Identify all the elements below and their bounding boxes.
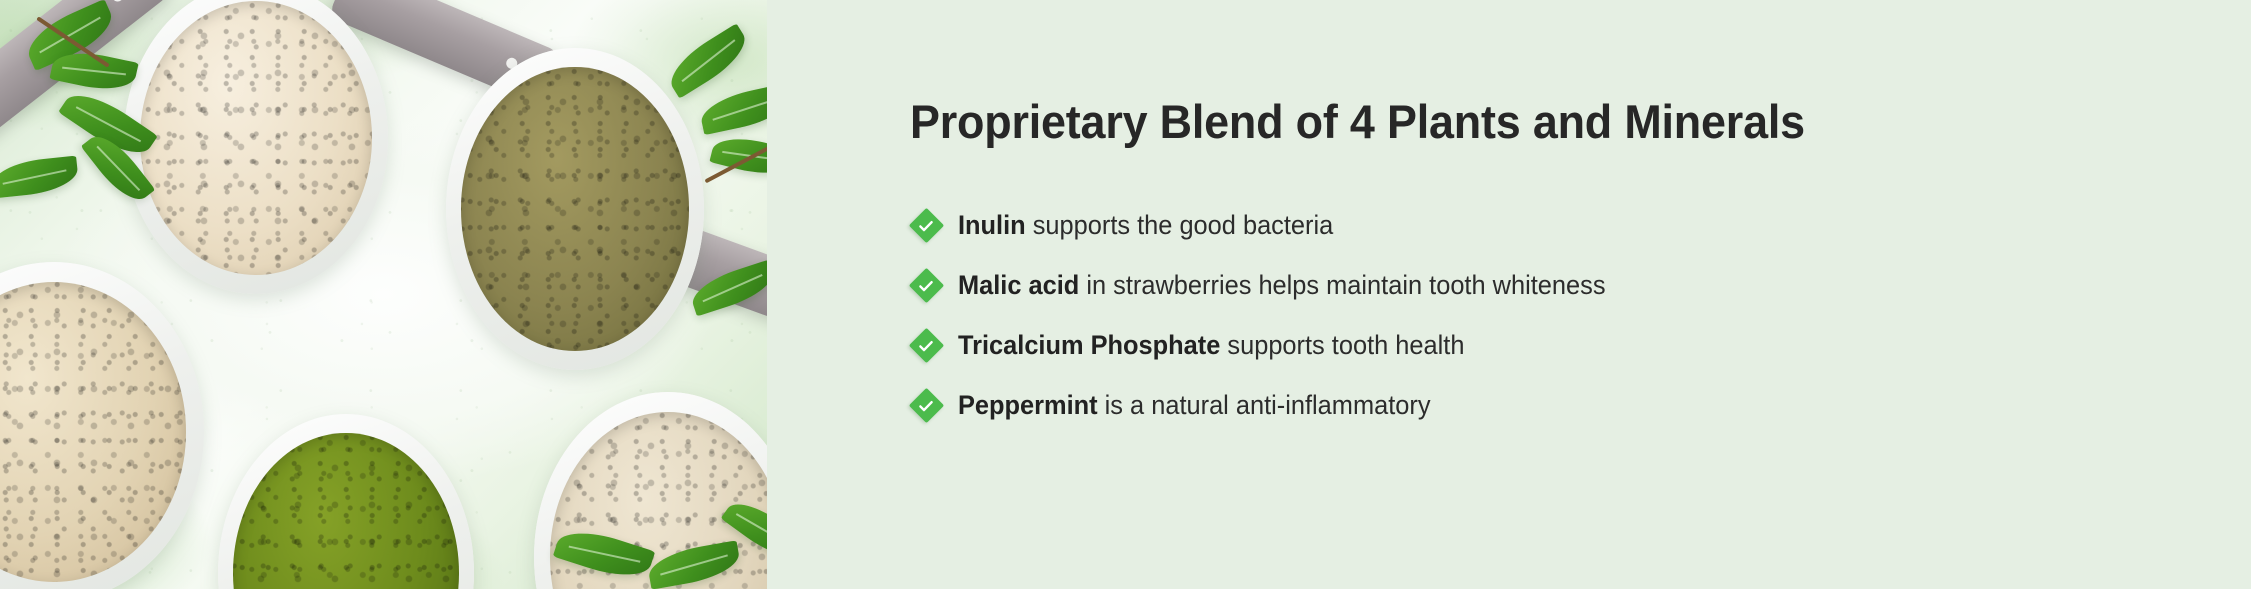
powder-grain-texture bbox=[140, 1, 372, 276]
check-diamond-icon bbox=[910, 210, 942, 242]
benefit-description: supports the good bacteria bbox=[1026, 210, 1334, 240]
product-benefits-banner: Proprietary Blend of 4 Plants and Minera… bbox=[0, 0, 2251, 589]
benefits-list: Inulin supports the good bacteria Malic … bbox=[910, 196, 2211, 436]
powder-grain-texture bbox=[461, 67, 688, 350]
powder-grain-texture bbox=[233, 433, 458, 589]
scoop-matcha-green-powder bbox=[218, 414, 474, 589]
benefit-term: Tricalcium Phosphate bbox=[958, 330, 1220, 360]
benefit-text: Peppermint is a natural anti-inflammator… bbox=[958, 389, 1431, 421]
list-item: Tricalcium Phosphate supports tooth heal… bbox=[910, 316, 2211, 376]
leaf-icon bbox=[697, 83, 767, 135]
benefit-description: in strawberries helps maintain tooth whi… bbox=[1079, 270, 1605, 300]
powder-fill bbox=[140, 1, 372, 276]
page-title: Proprietary Blend of 4 Plants and Minera… bbox=[910, 96, 2152, 149]
list-item: Peppermint is a natural anti-inflammator… bbox=[910, 376, 2211, 436]
powder-fill bbox=[233, 433, 458, 589]
benefits-content-panel: Proprietary Blend of 4 Plants and Minera… bbox=[767, 0, 2251, 589]
check-diamond-icon bbox=[910, 270, 942, 302]
powder-fill bbox=[0, 282, 186, 581]
benefit-text: Malic acid in strawberries helps maintai… bbox=[958, 269, 1606, 301]
powder-fill bbox=[461, 67, 688, 350]
benefit-description: supports tooth health bbox=[1220, 330, 1464, 360]
benefit-description: is a natural anti-inflammatory bbox=[1098, 390, 1431, 420]
leaf-icon bbox=[662, 23, 755, 98]
ingredient-scoops-photo bbox=[0, 0, 767, 589]
list-item: Malic acid in strawberries helps maintai… bbox=[910, 256, 2211, 316]
scoop-beige-powder bbox=[0, 262, 204, 589]
check-diamond-icon bbox=[910, 390, 942, 422]
benefit-text: Tricalcium Phosphate supports tooth heal… bbox=[958, 329, 1464, 361]
benefit-term: Inulin bbox=[958, 210, 1026, 240]
list-item: Inulin supports the good bacteria bbox=[910, 196, 2211, 256]
scoop-cream-protein-powder bbox=[124, 0, 388, 294]
benefit-text: Inulin supports the good bacteria bbox=[958, 209, 1333, 241]
benefit-term: Peppermint bbox=[958, 390, 1098, 420]
powder-grain-texture bbox=[0, 282, 186, 581]
scoop-olive-green-herb-powder bbox=[446, 48, 704, 370]
leaf-icon bbox=[0, 156, 80, 199]
benefit-term: Malic acid bbox=[958, 270, 1079, 300]
check-diamond-icon bbox=[910, 330, 942, 362]
